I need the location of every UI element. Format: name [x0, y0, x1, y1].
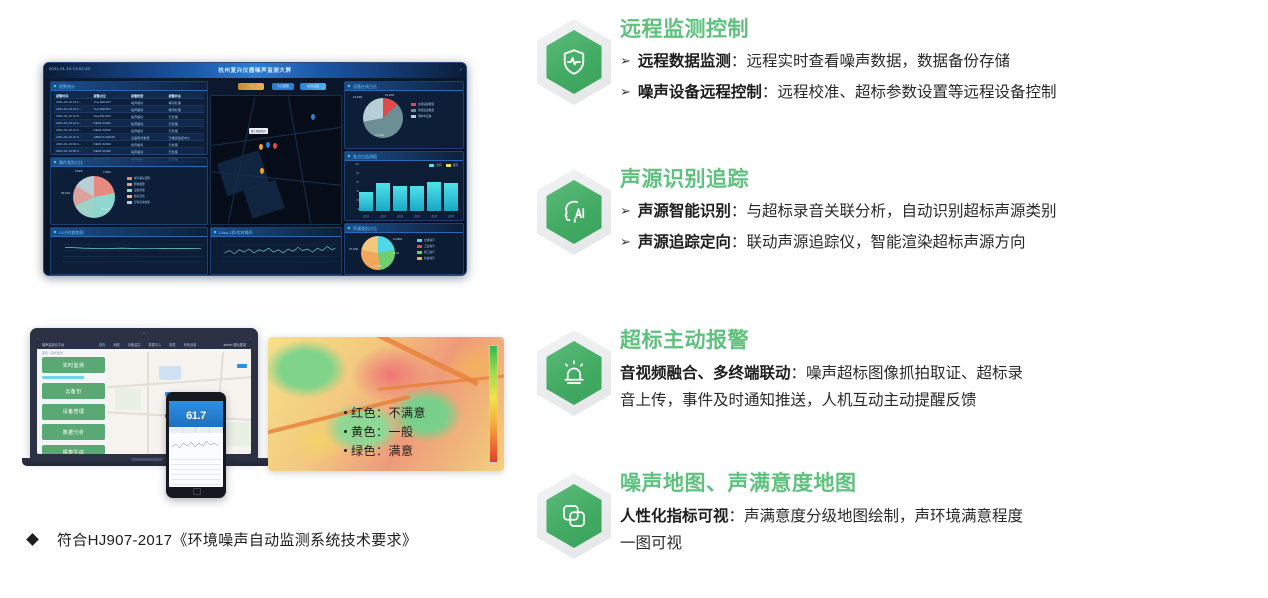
panel-header: 各点位监测值: [345, 152, 463, 161]
legend-text: 红色：不满意: [351, 404, 426, 421]
bullet-label: 远程数据监测: [638, 53, 731, 70]
legend-item: 噪声超标报警: [127, 176, 150, 180]
heatmap-legend-notes: 红色：不满意 黄色：一般 绿色：满意: [344, 404, 460, 461]
content-line: [171, 459, 221, 460]
sidebar-item-data-analysis[interactable]: 数据分析: [42, 424, 105, 440]
feature-icon-wrap: [528, 14, 620, 110]
legend-label: 噪声超标报警: [134, 176, 150, 180]
phone-tab[interactable]: [210, 427, 224, 433]
paragraph-separator: ：: [791, 365, 807, 382]
slide-root: 2021-01-19 13:02:33 杭州复兴仪器噪声监测大屏 ≡ 报警统计 …: [0, 0, 1268, 598]
table-row: 2021-01-19 10:2... AB6272-DE120 设备离线告警 已…: [54, 134, 204, 141]
table-col-header: 报警时间: [54, 93, 92, 98]
arrow-bullet-icon: ➢: [620, 81, 631, 104]
panel-title: 报警统计: [59, 84, 75, 90]
sidebar-item-cloud-backup[interactable]: 云备份: [42, 383, 105, 399]
map-tooltip: 建工路监测点: [249, 128, 268, 134]
standard-compliance-caption: 符合HJ907-2017《环境噪声自动监测系统技术要求》: [28, 529, 417, 550]
bar: [359, 192, 373, 211]
legend-label: 异常自动恢复: [134, 200, 150, 204]
table-cell: 2021-01-19 13:2...: [54, 107, 92, 111]
axis-tick: 点位3: [393, 214, 407, 218]
legend-swatch: [417, 257, 422, 260]
legend-item: 设备离线: [127, 188, 150, 192]
legend-label: 在线设备数量: [418, 102, 434, 106]
panel-header: 设备在线占比: [345, 82, 463, 91]
map-pin[interactable]: [311, 114, 315, 120]
legend-item: 维护中设备: [411, 114, 434, 118]
dashboard-screen: 2021-01-19 13:02:33 杭州复兴仪器噪声监测大屏 ≡ 报警统计 …: [43, 62, 467, 276]
map-header-controls: 12 今日报警 在线设备: [210, 81, 340, 94]
nav-item-settings[interactable]: 系统设置: [184, 342, 197, 347]
legend-label: 设备离线: [134, 188, 145, 192]
feature-title: 噪声地图、声满意度地图: [620, 472, 1268, 495]
legend-swatch: [127, 189, 132, 192]
breadcrumb: 首页 / 实时监测: [42, 351, 63, 355]
table-row: 2021-01-19 13:2... Yeq-DE1467 噪声超标 等待处理: [54, 106, 204, 113]
phone-header: 61.7: [169, 401, 223, 427]
hexagon-badge: [542, 484, 606, 548]
pie-slice-label: 7.91%: [103, 171, 111, 174]
axis-tick: 100: [350, 163, 359, 166]
legend-swatch: [127, 201, 132, 204]
table-cell: 等待处理: [167, 100, 205, 105]
table-cell: Yeq-DE1467: [92, 100, 130, 104]
table-row: 2021-01-19 08:3... DE18-32032 噪声超标 已处理: [54, 148, 204, 155]
legend-swatch: [127, 195, 132, 198]
legend-swatch: [411, 103, 416, 106]
sidebar-accent-bar: [42, 376, 84, 379]
paragraph-separator: ：: [729, 508, 745, 525]
legend-swatch: [127, 177, 132, 180]
legend-swatch: [417, 245, 422, 248]
feature-text: 远程监测控制 ➢ 远程数据监测：远程实时查看噪声数据，数据备份存储 ➢ 噪声设备…: [620, 14, 1268, 112]
table-cell: 2021-01-19 09:4...: [54, 142, 92, 146]
legend-swatch: [417, 251, 422, 254]
features-column: 远程监测控制 ➢ 远程数据监测：远程实时查看噪声数据，数据备份存储 ➢ 噪声设备…: [520, 0, 1268, 598]
legend-swatch: [446, 164, 451, 167]
axis-tick: 点位1: [359, 214, 373, 218]
legend-item: 社会噪声: [417, 256, 435, 260]
bullet-text: 远程校准、超标参数设置等远程设备控制: [777, 84, 1056, 101]
feature-bullet: ➢ 声源智能识别：与超标录音关联分析，自动识别超标声源类别: [620, 200, 1268, 224]
paragraph-label: 人性化指标可视: [620, 508, 729, 525]
legend-label: 昼间: [436, 163, 441, 167]
arrow-bullet-icon: ➢: [620, 231, 631, 254]
app-nav: 首页 地图 设备监控 数据中心 报表 系统设置: [99, 342, 196, 347]
pie-slice-label: 31.02%: [101, 208, 110, 211]
hexagon-badge: [542, 180, 606, 244]
paragraph-label: 音视频融合、多终端联动: [620, 365, 791, 382]
alarm-count-badge[interactable]: 12: [238, 83, 264, 90]
panel-header: 声源类别占比: [345, 224, 463, 233]
table-cell: 噪声超标: [129, 100, 167, 105]
bullet-text: 远程实时查看噪声数据，数据备份存储: [746, 53, 1010, 70]
map-road: [147, 352, 149, 454]
table-cell: 2021-01-19 12:2...: [54, 121, 92, 125]
table-cell: 噪声超标: [129, 142, 167, 147]
table-cell: DE18-32032: [92, 142, 130, 146]
feature-title: 超标主动报警: [620, 329, 1268, 352]
feature-bullet: ➢ 远程数据监测：远程实时查看噪声数据，数据备份存储: [620, 50, 1268, 74]
phone-tab[interactable]: [169, 427, 183, 433]
table-cell: AB6272-DE120: [92, 135, 130, 139]
map-pin[interactable]: [266, 142, 270, 148]
legend-row: 绿色：满意: [344, 442, 460, 459]
feature-title: 远程监测控制: [620, 18, 1268, 41]
bar: [444, 183, 458, 211]
feature-noise-map: 噪声地图、声满意度地图 人性化指标可视：声满意度分级地图绘制，声环境满意程度 一…: [520, 468, 1268, 564]
table-cell: 噪声超标: [129, 149, 167, 154]
feature-bullet: ➢ 噪声设备远程控制：远程校准、超标参数设置等远程设备控制: [620, 81, 1268, 105]
legend-item: 夜间: [446, 163, 458, 167]
legend-item: 断电报警: [127, 182, 150, 186]
pie-slice-label: 5.61%: [75, 170, 83, 173]
panel-header: 报警统计: [51, 82, 207, 91]
hexagon-badge: [542, 341, 606, 405]
bullet-separator: ：: [731, 53, 747, 70]
phone-mockup: 61.7: [166, 392, 226, 498]
axis-tick: 点位2: [376, 214, 390, 218]
content-line: [171, 479, 221, 480]
noise-reading-value: 61.7: [169, 410, 223, 422]
panel-title: 设备在线占比: [353, 84, 377, 90]
feature-icon-wrap: [528, 325, 620, 421]
bullet-label: 声源追踪定向: [638, 234, 731, 251]
legend-label: 施工噪声: [424, 250, 435, 254]
bullet-dot-icon: [344, 411, 347, 414]
left-visuals-column: 2021-01-19 13:02:33 杭州复兴仪器噪声监测大屏 ≡ 报警统计 …: [0, 0, 520, 598]
pie-slice-label: 33.41%: [61, 192, 70, 195]
bar: [410, 186, 424, 211]
alarm-table: 报警时间 报警点位 报警类型 报警状态 2021-01-19 13:2... Y…: [54, 92, 204, 162]
bar: [376, 183, 390, 211]
arrow-bullet-icon: ➢: [620, 200, 631, 223]
sidebar-item-device-mgmt[interactable]: 设备管理: [42, 404, 105, 420]
map-pin[interactable]: [259, 144, 263, 150]
laptop-mockup: 噪声监测云平台 admin 退出登录 首页 地图 设备监控 数据中心 报表 系统…: [22, 328, 272, 488]
nav-item-map[interactable]: 地图: [113, 342, 119, 347]
laptop-base: [22, 458, 272, 466]
legend-label: 交通噪声: [424, 238, 435, 242]
table-col-header: 报警点位: [92, 93, 130, 98]
axis-tick: 60: [350, 181, 359, 184]
legend-item: 施工噪声: [417, 250, 435, 254]
table-cell: Yeq-DE1467: [92, 107, 130, 111]
legend-swatch: [127, 183, 132, 186]
arrow-bullet-icon: ➢: [620, 50, 631, 73]
legend-text: 绿色：满意: [351, 442, 414, 459]
dashboard-menu-icon[interactable]: ≡: [460, 67, 462, 72]
legend-label: 工业噪声: [424, 244, 435, 248]
table-cell: 2021-01-19 13:2...: [54, 100, 92, 104]
bar: [427, 182, 441, 211]
table-cell: 噪声超标: [129, 121, 167, 126]
bullet-label: 声源智能识别: [638, 203, 731, 220]
feature-source-identification: 声源识别追踪 ➢ 声源智能识别：与超标录音关联分析，自动识别超标声源类别 ➢ 声…: [520, 164, 1268, 262]
alarm-siren-icon: [542, 341, 606, 405]
table-cell: 已处理: [167, 128, 205, 133]
legend-label: 离线设备数量: [418, 108, 434, 112]
axis-tick: 0: [350, 208, 359, 211]
table-cell: 已推送监控中心: [167, 135, 205, 140]
phone-screen: 61.7: [169, 401, 223, 487]
table-col-header: 报警状态: [167, 93, 205, 98]
map-pin[interactable]: [273, 143, 277, 149]
line-chart: [63, 240, 203, 266]
paragraph-line-2: 一图可视: [620, 535, 682, 552]
sidebar-item-report[interactable]: 报表生成: [42, 445, 105, 455]
panel-header: 事件类别占比: [51, 158, 207, 167]
bullet-separator: ：: [762, 84, 778, 101]
pie-chart: [73, 176, 115, 218]
axis-tick: 80: [350, 172, 359, 175]
table-row: 2021-01-19 12:2... DE18-32032 噪声超标 已处理: [54, 120, 204, 127]
dashboard-title: 杭州复兴仪器噪声监测大屏: [44, 66, 466, 74]
table-header-row: 报警时间 报警点位 报警类型 报警状态: [54, 92, 204, 99]
pie-slice-label: 47.12%: [349, 248, 358, 251]
pie-slice-label: 72.45%: [375, 134, 384, 137]
phone-tabbar[interactable]: [169, 427, 223, 433]
legend-text: 黄色：一般: [351, 423, 414, 440]
app-brand: 噪声监测云平台: [42, 342, 64, 347]
feature-icon-wrap: [528, 468, 620, 564]
feature-text: 超标主动报警 音视频融合、多终端联动：噪声超标图像抓拍取证、超标录 音上传，事件…: [620, 325, 1268, 414]
table-cell: 已处理: [167, 149, 205, 154]
bar-x-axis: 点位1 点位2 点位3 点位4 点位5 点位6: [359, 214, 458, 218]
bullet-dot-icon: [344, 449, 347, 452]
table-cell: 噪声超标: [129, 114, 167, 119]
legend-label: 社会噪声: [424, 256, 435, 260]
feature-icon-wrap: [528, 164, 620, 260]
legend-item: 昼间: [429, 163, 441, 167]
feature-bullet: ➢ 声源追踪定向：联动声源追踪仪，智能渲染超标声源方向: [620, 231, 1268, 255]
table-cell: 已处理: [167, 142, 205, 147]
online-device-button[interactable]: 在线设备: [300, 83, 326, 90]
panel-header: 24小时趋势图: [51, 228, 207, 237]
axis-tick: 点位4: [410, 214, 424, 218]
map-park: [115, 388, 141, 410]
bullet-separator: ：: [731, 203, 747, 220]
ai-head-icon: [542, 180, 606, 244]
feature-title: 声源识别追踪: [620, 168, 1268, 191]
web-app-topbar: 噪声监测云平台 admin 退出登录 首页 地图 设备监控 数据中心 报表 系统…: [37, 338, 251, 349]
paragraph-line-1: 声满意度分级地图绘制，声环境满意程度: [744, 508, 1023, 525]
legend-label: 断电报警: [134, 182, 145, 186]
legend-item: 交通噪声: [417, 238, 435, 242]
table-cell: Seq-DE1467: [92, 114, 130, 118]
today-alarm-button[interactable]: 今日报警: [272, 83, 294, 90]
panel-map: 12 今日报警 在线设备 建工路监测点: [210, 81, 340, 223]
line-chart: [223, 240, 337, 266]
legend-item: 离线设备数量: [411, 108, 434, 112]
shield-pulse-icon: [542, 30, 606, 94]
caption-text: 符合HJ907-2017《环境噪声自动监测系统技术要求》: [57, 529, 417, 550]
pie-legend: 交通噪声 工业噪声 施工噪声 社会噪声: [417, 238, 435, 260]
pie-chart: [363, 98, 403, 138]
bullet-separator: ：: [731, 234, 747, 251]
table-cell: 噪声超标: [129, 128, 167, 133]
table-cell: 2021-01-19 08:3...: [54, 149, 92, 153]
table-row: 2021-01-19 11:4... DE18-32032 噪声超标 已处理: [54, 127, 204, 134]
bullet-text: 与超标录音关联分析，自动识别超标声源类别: [746, 203, 1056, 220]
panel-title: 事件类别占比: [59, 160, 83, 166]
panel-source-category-pie: 声源类别占比 47.12% 11.09% 9.1% 21.67% 交通噪声 工业…: [344, 223, 464, 275]
bullet-label: 噪声设备远程控制: [638, 84, 762, 101]
pie-legend: 噪声超标报警 断电报警 设备离线 超标录音 异常自动恢复: [127, 176, 150, 204]
user-menu[interactable]: admin 退出登录: [224, 342, 246, 347]
content-line: [171, 464, 221, 465]
legend-swatch: [411, 109, 416, 112]
layers-icon: [542, 484, 606, 548]
table-cell: 2021-01-19 10:2...: [54, 135, 92, 139]
pie-slice-label: 13.12%: [385, 94, 394, 97]
dashboard-header-bar: 2021-01-19 13:02:33 杭州复兴仪器噪声监测大屏 ≡: [44, 63, 466, 78]
pie-slice-label: 14.43%: [353, 96, 362, 99]
feature-text: 声源识别追踪 ➢ 声源智能识别：与超标录音关联分析，自动识别超标声源类别 ➢ 声…: [620, 164, 1268, 262]
map-marker[interactable]: [237, 364, 247, 368]
map-park: [227, 422, 251, 446]
table-cell: DE18-32032: [92, 128, 130, 132]
legend-row: 红色：不满意: [344, 404, 460, 421]
feature-text: 噪声地图、声满意度地图 人性化指标可视：声满意度分级地图绘制，声环境满意程度 一…: [620, 468, 1268, 557]
bullet-dot-icon: [344, 430, 347, 433]
legend-swatch: [411, 115, 416, 118]
table-row: 2021-01-19 13:2... Yeq-DE1467 噪声超标 等待处理: [54, 99, 204, 106]
feature-paragraph: 人性化指标可视：声满意度分级地图绘制，声环境满意程度 一图可视: [620, 504, 1268, 557]
panel-alarm-table: 报警统计 报警时间 报警点位 报警类型 报警状态 2021-01-19 13:2…: [50, 81, 208, 155]
bar-series: [359, 175, 458, 211]
heatmap-color-scale: [489, 345, 498, 463]
feature-overlimit-alarm: 超标主动报警 音视频融合、多终端联动：噪声超标图像抓拍取证、超标录 音上传，事件…: [520, 325, 1268, 421]
table-cell: 设备离线告警: [129, 135, 167, 140]
table-cell: DE18-32032: [92, 149, 130, 153]
nav-item-report[interactable]: 报表: [169, 342, 175, 347]
panel-title: 各点位监测值: [353, 154, 377, 160]
panel-title: 声源类别占比: [353, 226, 377, 232]
axis-tick: 20: [350, 199, 359, 202]
feature-paragraph: 音视频融合、多终端联动：噪声超标图像抓拍取证、超标录 音上传，事件及时通知推送，…: [620, 361, 1268, 414]
legend-item: 异常自动恢复: [127, 200, 150, 204]
axis-tick: 点位6: [444, 214, 458, 218]
legend-label: 超标录音: [134, 194, 145, 198]
phone-content: [171, 435, 221, 485]
pie-slice-label: 9.1%: [393, 252, 399, 255]
sidebar-item-realtime[interactable]: 实时监测: [42, 357, 105, 373]
panel-header: LAeq 1秒/实时噪声: [211, 228, 341, 237]
map-water: [159, 366, 181, 380]
legend-swatch: [417, 239, 422, 242]
table-cell: DE18-32032: [92, 121, 130, 125]
content-line: [171, 484, 221, 485]
paragraph-line-2: 音上传，事件及时通知推送，人机互动主动提醒反馈: [620, 392, 977, 409]
laptop-sidebar-menu: 实时监测 云备份 设备管理 数据分析 报表生成: [42, 357, 105, 454]
pie-legend: 在线设备数量 离线设备数量 维护中设备: [411, 102, 434, 118]
table-col-header: 报警类型: [129, 93, 167, 98]
hexagon-badge: [542, 30, 606, 94]
bar: [393, 186, 407, 211]
table-cell: 2021-01-19 11:4...: [54, 128, 92, 132]
pie-slice-label: 11.09%: [393, 238, 402, 241]
legend-label: 夜间: [453, 163, 458, 167]
table-row: 2021-01-19 12:5... Seq-DE1467 噪声超标 已处理: [54, 113, 204, 120]
panel-event-category-pie: 事件类别占比 33.41% 5.61% 7.91% 31.02% 噪声超标报警 …: [50, 157, 208, 225]
panel-device-online-pie: 设备在线占比 14.43% 13.12% 72.45% 在线设备数量 离线设备数…: [344, 81, 464, 149]
map-canvas[interactable]: 建工路监测点: [210, 95, 342, 225]
paragraph-line-1: 噪声超标图像抓拍取证、超标录: [806, 365, 1023, 382]
axis-tick: 40: [350, 190, 359, 193]
legend-row: 黄色：一般: [344, 423, 460, 440]
sound-satisfaction-heatmap: 红色：不满意 黄色：一般 绿色：满意: [268, 337, 504, 471]
diamond-bullet-icon: [26, 533, 39, 546]
legend-item: 工业噪声: [417, 244, 435, 248]
panel-title: 24小时趋势图: [59, 230, 83, 236]
legend-swatch: [429, 164, 434, 167]
legend-item: 在线设备数量: [411, 102, 434, 106]
map-road: [288, 97, 311, 223]
panel-24h-trend: 24小时趋势图: [50, 227, 208, 275]
table-cell: 噪声超标: [129, 107, 167, 112]
table-cell: 等待处理: [167, 107, 205, 112]
panel-laeq-realtime: LAeq 1秒/实时噪声: [210, 227, 342, 275]
table-cell: 已处理: [167, 114, 205, 119]
heatmap-road: [378, 374, 504, 391]
content-line: [171, 474, 221, 475]
table-row: 2021-01-19 09:4... DE18-32032 噪声超标 已处理: [54, 141, 204, 148]
feature-remote-monitoring: 远程监测控制 ➢ 远程数据监测：远程实时查看噪声数据，数据备份存储 ➢ 噪声设备…: [520, 14, 1268, 112]
phone-tab[interactable]: [196, 427, 210, 433]
panel-title: LAeq 1秒/实时噪声: [219, 230, 253, 236]
nav-item-home[interactable]: 首页: [99, 342, 105, 347]
table-cell: 已处理: [167, 121, 205, 126]
phone-tab[interactable]: [183, 427, 197, 433]
legend-label: 维护中设备: [418, 114, 431, 118]
nav-item-data[interactable]: 数据中心: [149, 342, 162, 347]
content-line: [171, 469, 221, 470]
axis-tick: 点位5: [427, 214, 441, 218]
panel-site-bar-chart: 各点位监测值 昼间 夜间 100 80 60 40 20 0: [344, 151, 464, 221]
monitoring-dashboard-mockup: 2021-01-19 13:02:33 杭州复兴仪器噪声监测大屏 ≡ 报警统计 …: [43, 62, 467, 276]
nav-item-device[interactable]: 设备监控: [128, 342, 141, 347]
table-cell: 2021-01-19 12:5...: [54, 114, 92, 118]
bullet-text: 联动声源追踪仪，智能渲染超标声源方向: [746, 234, 1025, 251]
bar-y-axis: 100 80 60 40 20 0: [350, 163, 359, 211]
pie-slice-label: 21.67%: [373, 265, 382, 268]
bar-legend: 昼间 夜间: [429, 163, 458, 167]
legend-item: 超标录音: [127, 194, 150, 198]
